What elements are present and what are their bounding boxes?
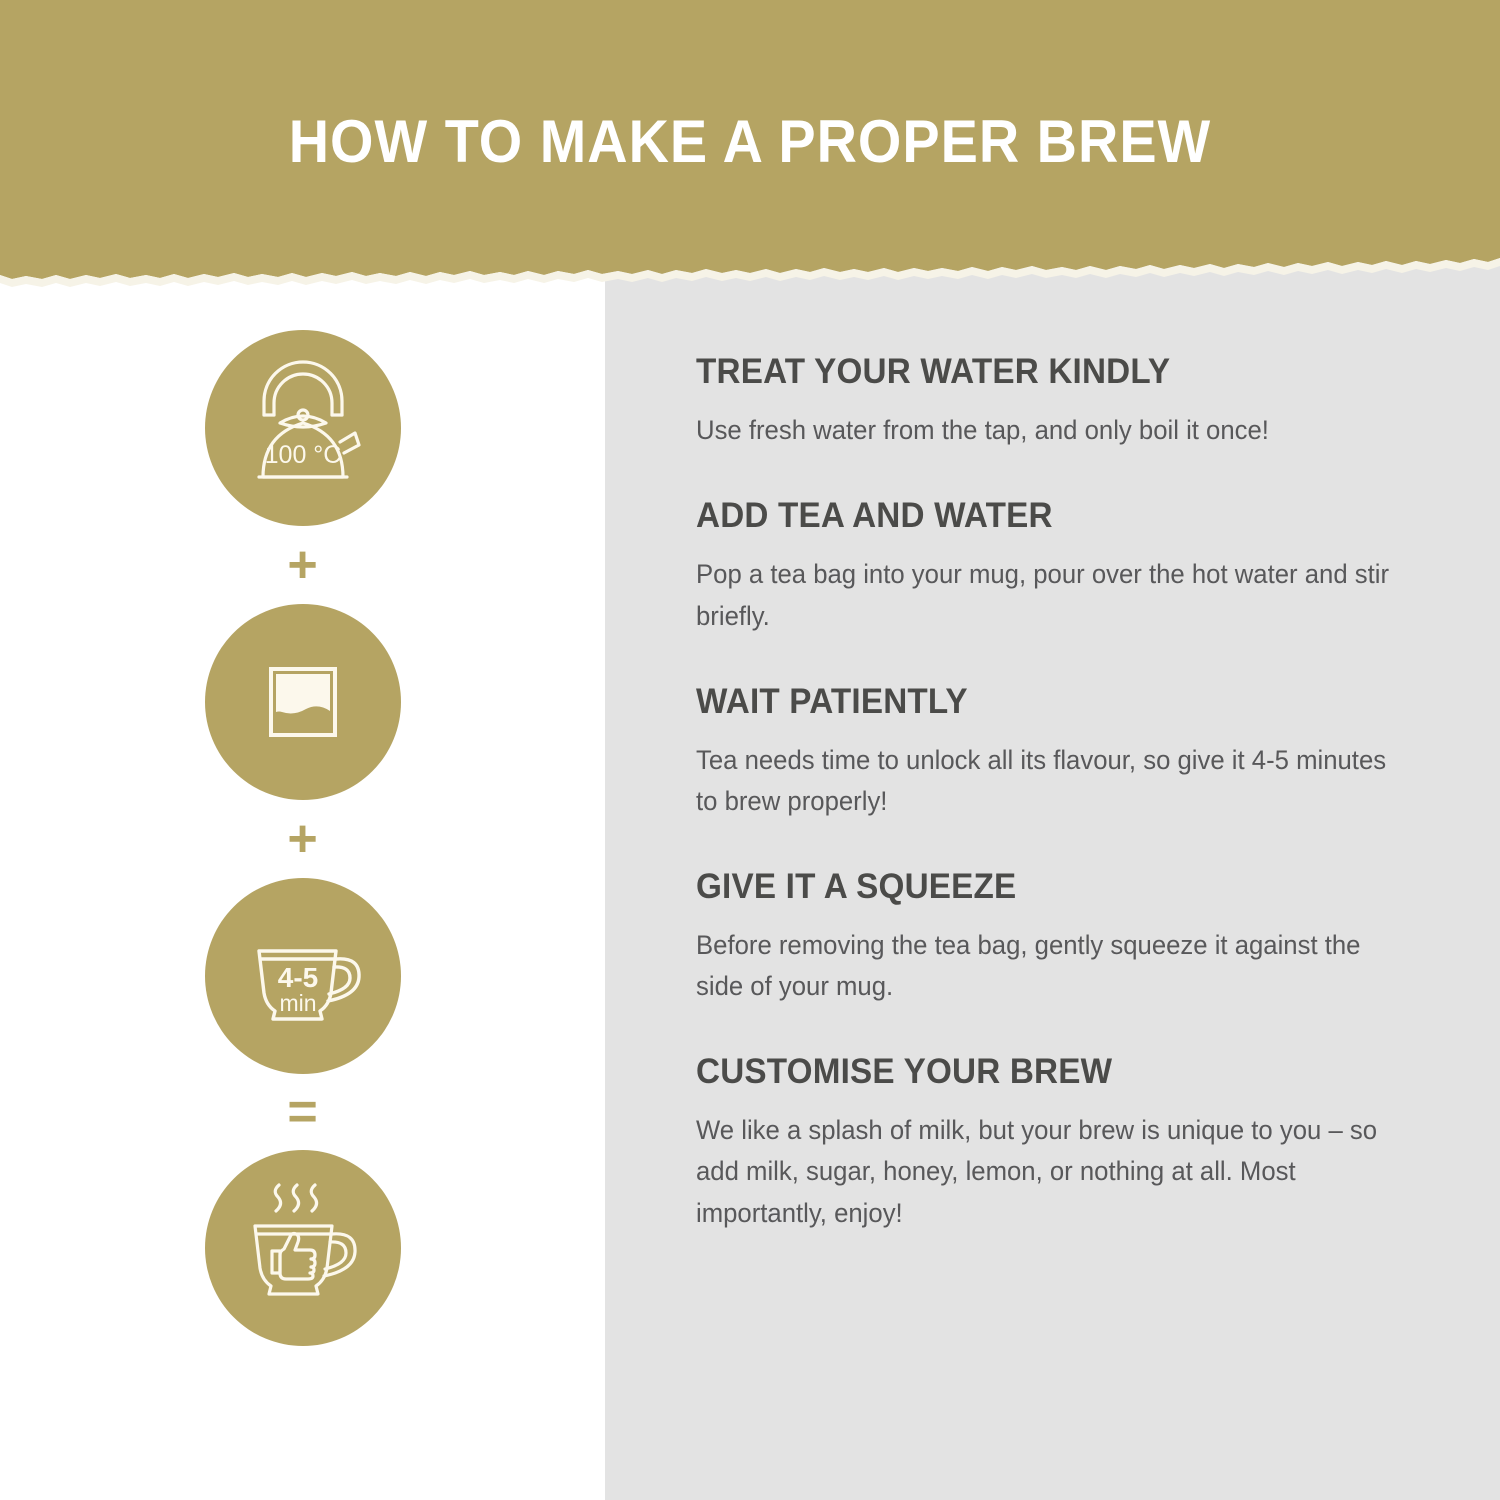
steps-list: TREAT YOUR WATER KINDLY Use fresh water … xyxy=(696,352,1426,1234)
step-item: WAIT PATIENTLY Tea needs time to unlock … xyxy=(696,682,1426,822)
steaming-cup-thumbs-up-icon xyxy=(205,1150,401,1346)
teacup-timer-glyph: 4-5 min xyxy=(228,901,378,1051)
step-title: WAIT PATIENTLY xyxy=(696,682,1390,721)
step-item: CUSTOMISE YOUR BREW We like a splash of … xyxy=(696,1052,1426,1233)
step-body: Pop a tea bag into your mug, pour over t… xyxy=(696,554,1404,636)
step-item: GIVE IT A SQUEEZE Before removing the te… xyxy=(696,867,1426,1007)
step-title: TREAT YOUR WATER KINDLY xyxy=(696,352,1390,391)
step-title: ADD TEA AND WATER xyxy=(696,496,1390,535)
tea-bag-icon xyxy=(205,604,401,800)
teacup-time-unit: min xyxy=(279,990,316,1016)
plus-operator-2: + xyxy=(287,800,317,878)
step-title: GIVE IT A SQUEEZE xyxy=(696,867,1390,906)
tea-bag-glyph xyxy=(228,627,378,777)
teacup-timer-icon: 4-5 min xyxy=(205,878,401,1074)
kettle-icon: 100 °C xyxy=(205,330,401,526)
icon-flow-column: 100 °C + + xyxy=(0,330,605,1346)
step-item: ADD TEA AND WATER Pop a tea bag into you… xyxy=(696,496,1426,636)
plus-operator-1: + xyxy=(287,526,317,604)
header-band: HOW TO MAKE A PROPER BREW xyxy=(0,0,1500,292)
step-title: CUSTOMISE YOUR BREW xyxy=(696,1052,1390,1091)
step-body: Before removing the tea bag, gently sque… xyxy=(696,925,1404,1007)
kettle-temperature-label: 100 °C xyxy=(264,441,341,469)
steaming-cup-glyph xyxy=(228,1173,378,1323)
equals-operator: = xyxy=(287,1074,317,1150)
infographic-page: HOW TO MAKE A PROPER BREW xyxy=(0,0,1500,1500)
page-title: HOW TO MAKE A PROPER BREW xyxy=(53,112,1448,172)
step-item: TREAT YOUR WATER KINDLY Use fresh water … xyxy=(696,352,1426,451)
step-body: We like a splash of milk, but your brew … xyxy=(696,1110,1404,1233)
teacup-time-value: 4-5 xyxy=(277,962,317,993)
step-body: Tea needs time to unlock all its flavour… xyxy=(696,740,1404,822)
step-body: Use fresh water from the tap, and only b… xyxy=(696,410,1404,451)
kettle-glyph: 100 °C xyxy=(228,353,378,503)
